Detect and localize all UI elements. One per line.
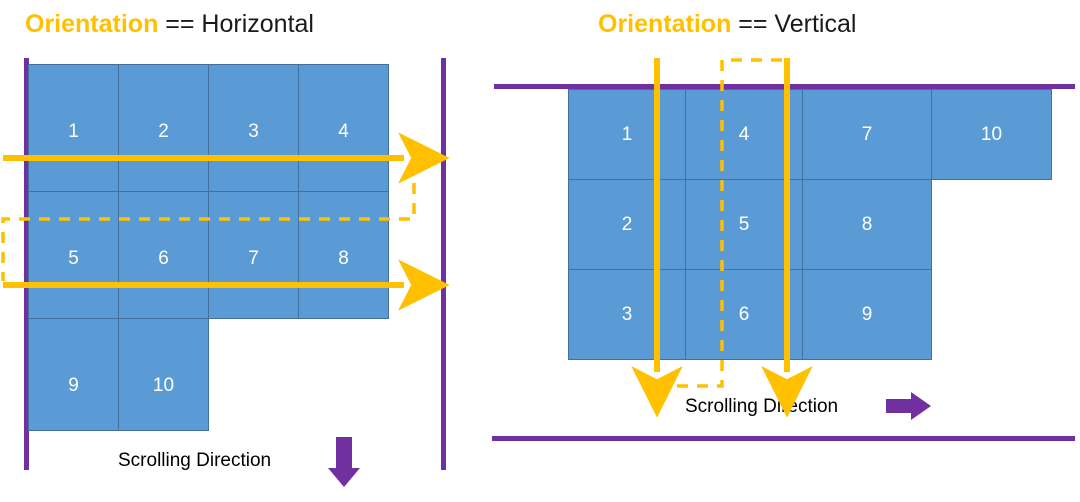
cell-label: 4 [338, 121, 349, 143]
right-boundary-line-end [492, 436, 1075, 441]
cell-label: 1 [68, 121, 79, 143]
cell-label: 10 [153, 375, 174, 397]
cell-5: 5 [685, 179, 803, 270]
panel-title-vertical: Orientation == Vertical [598, 12, 856, 37]
cell-label: 5 [739, 214, 750, 236]
cell-label: 7 [862, 124, 873, 146]
cell-label: 1 [622, 124, 633, 146]
cell-2: 2 [118, 64, 209, 192]
cell-label: 8 [338, 248, 349, 270]
scroll-direction-label-horizontal: Scrolling Direction [118, 450, 271, 472]
cell-1: 1 [568, 89, 686, 180]
cell-8: 8 [298, 191, 389, 319]
arrow-down-icon [328, 437, 360, 487]
cell-6: 6 [118, 191, 209, 319]
cell-label: 8 [862, 214, 873, 236]
left-boundary-line-end [441, 58, 446, 470]
cell-9: 9 [802, 269, 932, 360]
cell-2: 2 [568, 179, 686, 270]
cell-label: 3 [622, 304, 633, 326]
cell-label: 9 [862, 304, 873, 326]
cell-label: 2 [622, 214, 633, 236]
panel-title-horizontal: Orientation == Horizontal [25, 12, 314, 37]
cell-label: 6 [158, 248, 169, 270]
cell-4: 4 [298, 64, 389, 192]
cell-10: 10 [118, 318, 209, 431]
cell-9: 9 [28, 318, 119, 431]
cell-4: 4 [685, 89, 803, 180]
cell-6: 6 [685, 269, 803, 360]
cell-label: 2 [158, 121, 169, 143]
title-rest-vertical: == Vertical [731, 10, 856, 38]
title-rest-horizontal: == Horizontal [158, 10, 314, 38]
cell-3: 3 [208, 64, 299, 192]
title-keyword-vertical: Orientation [598, 10, 731, 38]
cell-label: 10 [981, 124, 1002, 146]
diagram-canvas: Orientation == Horizontal 1 2 3 4 5 6 7 … [0, 0, 1080, 502]
cell-label: 3 [248, 121, 259, 143]
cell-5: 5 [28, 191, 119, 319]
cell-label: 6 [739, 304, 750, 326]
cell-label: 7 [248, 248, 259, 270]
cell-label: 4 [739, 124, 750, 146]
cell-label: 9 [68, 375, 79, 397]
arrow-right-icon [886, 392, 931, 420]
cell-label: 5 [68, 248, 79, 270]
cell-1: 1 [28, 64, 119, 192]
cell-3: 3 [568, 269, 686, 360]
title-keyword-horizontal: Orientation [25, 10, 158, 38]
cell-10: 10 [931, 89, 1052, 180]
cell-7: 7 [802, 89, 932, 180]
cell-8: 8 [802, 179, 932, 270]
cell-7: 7 [208, 191, 299, 319]
scroll-direction-label-vertical: Scrolling Direction [685, 396, 838, 418]
